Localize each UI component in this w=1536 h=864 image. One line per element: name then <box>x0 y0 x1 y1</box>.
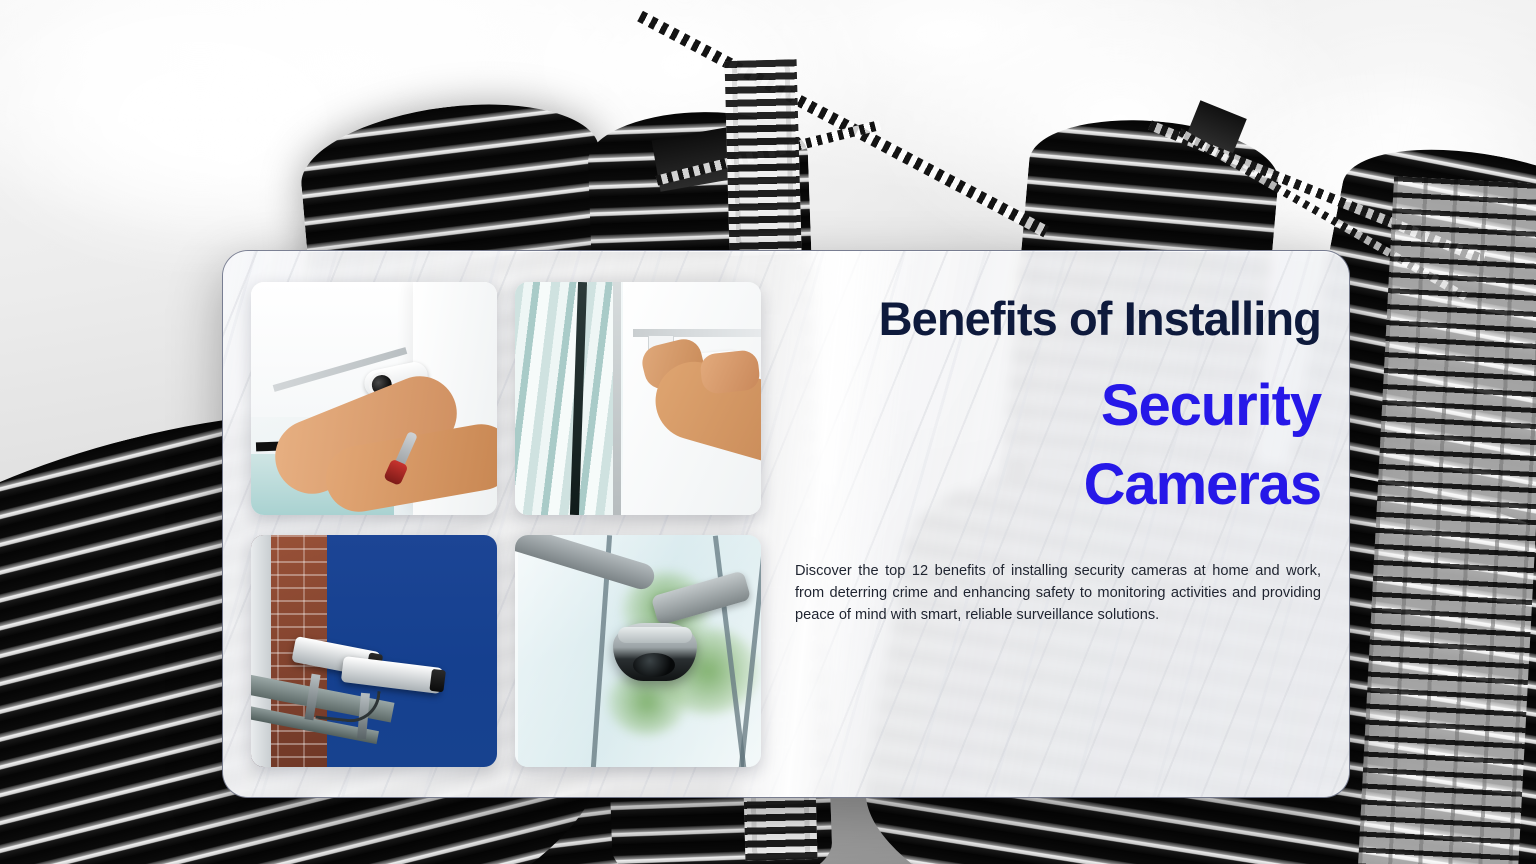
content-card: Benefits of Installing Security Cameras … <box>222 250 1350 798</box>
hand <box>699 349 761 395</box>
image-gallery <box>251 282 761 767</box>
camera-cable <box>316 685 381 725</box>
headline-line-3: Cameras <box>795 455 1321 516</box>
dome-camera-icon <box>613 623 697 681</box>
curtain <box>515 282 618 515</box>
headline-line-1: Benefits of Installing <box>795 294 1321 344</box>
window-frame <box>613 282 621 515</box>
gallery-image-dome-camera-glass-facade[interactable] <box>515 535 761 768</box>
headline-line-2: Security <box>795 376 1321 437</box>
text-column: Benefits of Installing Security Cameras … <box>795 282 1321 767</box>
gallery-image-dual-cctv-blue-sky[interactable] <box>251 535 497 768</box>
poster-canvas: Benefits of Installing Security Cameras … <box>0 0 1536 864</box>
gallery-image-install-bullet-camera-ceiling[interactable] <box>251 282 497 515</box>
wall-jamb <box>251 535 271 768</box>
gallery-image-mount-camera-near-window[interactable] <box>515 282 761 515</box>
description-paragraph: Discover the top 12 benefits of installi… <box>795 560 1321 627</box>
